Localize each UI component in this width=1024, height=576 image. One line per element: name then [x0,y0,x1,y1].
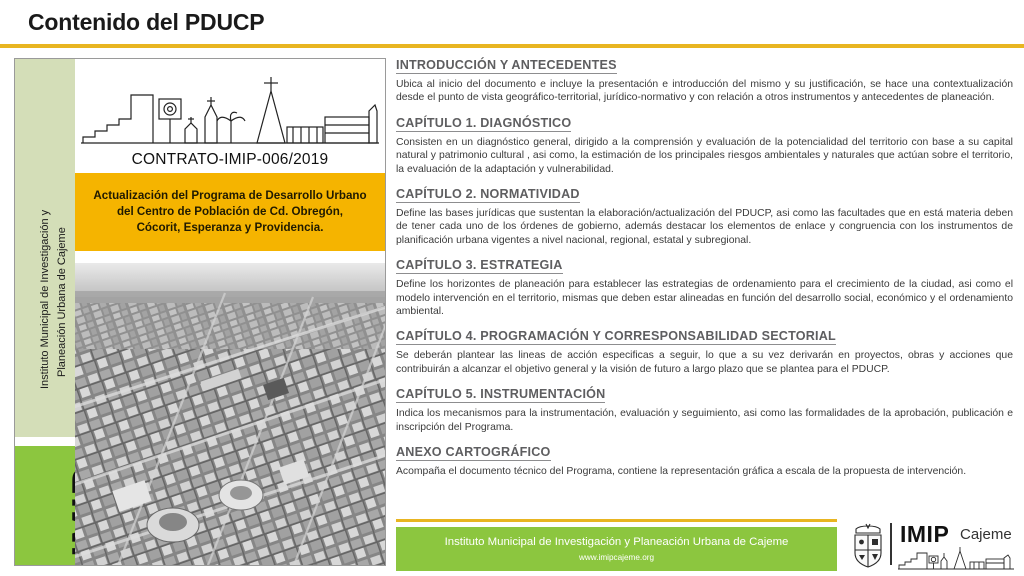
section-body: Ubica al inicio del documento e incluye … [396,78,1013,105]
section-heading: CAPÍTULO 2. NORMATIVIDAD [396,187,580,203]
cover-title-line-2: del Centro de Población de Cd. Obregón, [117,204,343,220]
logo-city-skyline-icon [898,547,1014,571]
section-body: Acompaña el documento técnico del Progra… [396,465,1013,478]
header-divider [0,44,1024,48]
cover-body: CONTRATO-IMIP-006/2019 Actualización del… [75,59,385,565]
section-body: Consisten en un diagnóstico general, dir… [396,136,1013,176]
footer-institution-bar: Instituto Municipal de Investigación y P… [396,527,837,571]
contract-number: CONTRATO-IMIP-006/2019 [75,151,385,169]
cajeme-coat-of-arms-icon [848,523,888,569]
section-heading: CAPÍTULO 1. DIAGNÓSTICO [396,116,571,132]
section-body: Define las bases jurídicas que sustentan… [396,207,1013,247]
section-anexo-cartografico: ANEXO CARTOGRÁFICO Acompaña el documento… [396,443,1014,478]
logo-divider [890,523,892,565]
section-heading: CAPÍTULO 4. PROGRAMACIÓN Y CORRESPONSABI… [396,329,836,345]
cover-sidebar: Instituto Municipal de Investigación y P… [15,59,75,565]
sidebar-gap [15,437,75,446]
footer-divider [396,519,837,522]
section-heading: INTRODUCCIÓN Y ANTECEDENTES [396,58,617,74]
aerial-photo [75,263,385,565]
section-body: Define los horizontes de planeación para… [396,278,1013,318]
content-column: INTRODUCCIÓN Y ANTECEDENTES Ubica al ini… [396,56,1014,488]
cover-title-box: Actualización del Programa de Desarrollo… [75,173,385,251]
section-body: Indica los mecanismos para la instrument… [396,407,1013,434]
section-heading: CAPÍTULO 3. ESTRATEGIA [396,258,563,274]
section-capitulo-5: CAPÍTULO 5. INSTRUMENTACIÓN Indica los m… [396,385,1014,434]
section-heading: CAPÍTULO 5. INSTRUMENTACIÓN [396,387,605,403]
sidebar-institution-line1: Instituto Municipal de Investigación y [39,210,51,389]
slide-footer: Instituto Municipal de Investigación y P… [396,519,1014,571]
logo-city: Cajeme [960,526,1012,543]
cover-title-line-3: Cócorit, Esperanza y Providencia. [137,220,324,236]
cover-panel: Instituto Municipal de Investigación y P… [14,58,386,566]
footer-website[interactable]: www.imipcajeme.org [579,553,654,562]
imip-logo: IMIP Cajeme [848,523,1014,571]
section-heading: ANEXO CARTOGRÁFICO [396,445,551,461]
city-skyline-icon [81,73,379,151]
footer-institution-name: Instituto Municipal de Investigación y P… [445,536,789,548]
section-capitulo-3: CAPÍTULO 3. ESTRATEGIA Define los horizo… [396,256,1014,318]
page-title: Contenido del PDUCP [28,9,264,36]
section-introduccion: INTRODUCCIÓN Y ANTECEDENTES Ubica al ini… [396,56,1014,105]
logo-acronym: IMIP [900,521,949,548]
slide-header: Contenido del PDUCP [0,0,1024,48]
sidebar-institution-line2: Planeación Urbana de Cajeme [56,227,68,377]
cover-title-line-1: Actualización del Programa de Desarrollo… [93,188,366,204]
section-capitulo-4: CAPÍTULO 4. PROGRAMACIÓN Y CORRESPONSABI… [396,327,1014,376]
section-body: Se deberán plantear las lineas de acción… [396,349,1013,376]
section-capitulo-2: CAPÍTULO 2. NORMATIVIDAD Define las base… [396,185,1014,247]
section-capitulo-1: CAPÍTULO 1. DIAGNÓSTICO Consisten en un … [396,114,1014,176]
